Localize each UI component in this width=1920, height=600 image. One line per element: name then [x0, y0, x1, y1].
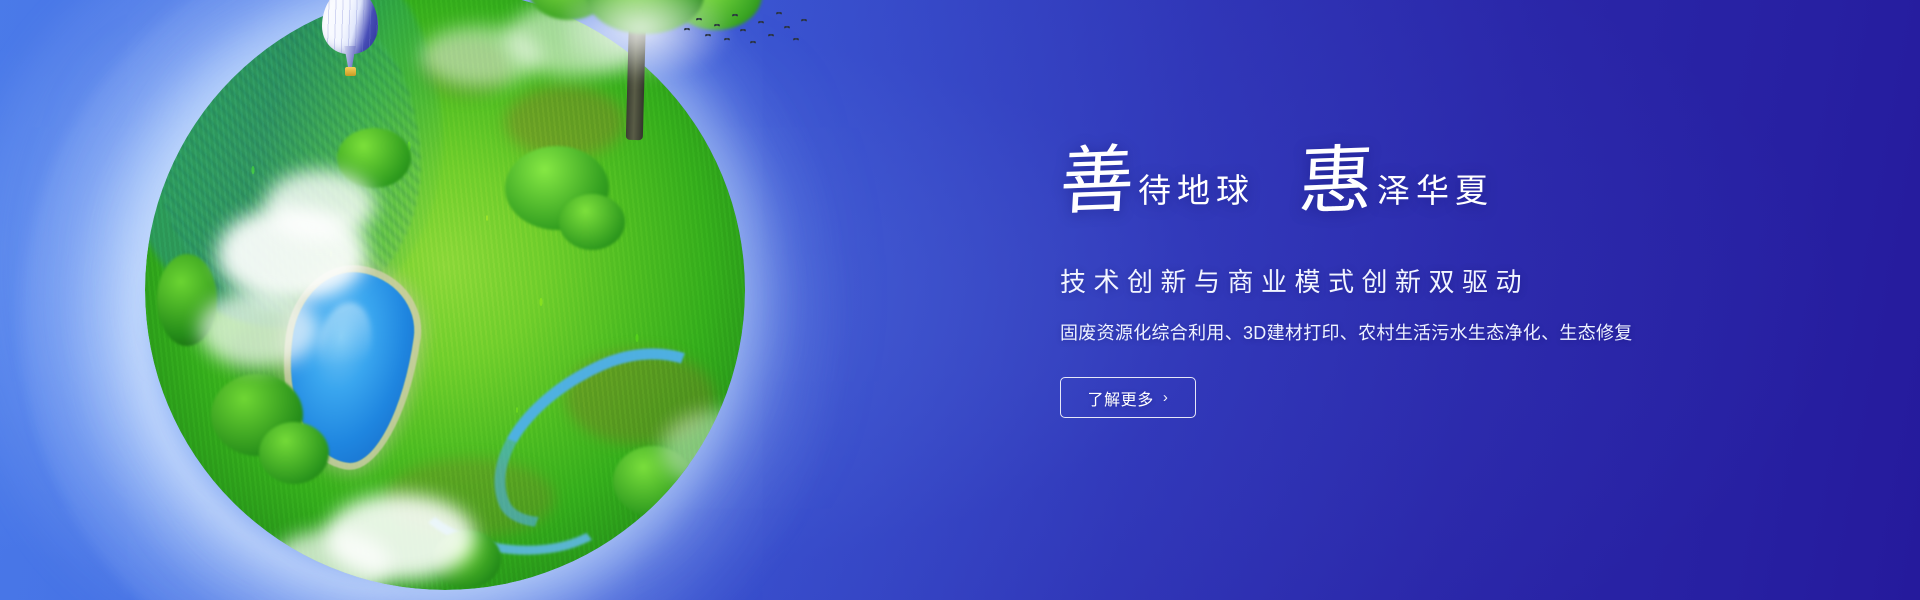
- hero-banner: 善 待地球 惠 泽华夏 技术创新与商业模式创新双驱动 固废资源化综合利用、3D建…: [0, 0, 1920, 600]
- headline-char-2: 惠: [1297, 147, 1375, 218]
- headline-text-1: 待地球: [1138, 164, 1255, 212]
- cloud-icon: [265, 170, 375, 240]
- tree-icon: [259, 422, 329, 484]
- learn-more-label: 了解更多: [1087, 386, 1153, 410]
- headline-text-2: 泽华夏: [1377, 164, 1494, 212]
- hot-air-balloon-icon: [322, 0, 384, 88]
- banner-headline: 善 待地球 惠 泽华夏: [1060, 148, 1760, 228]
- banner-content: 善 待地球 惠 泽华夏 技术创新与商业模式创新双驱动 固废资源化综合利用、3D建…: [1060, 148, 1760, 418]
- chevron-right-icon: ›: [1163, 390, 1169, 405]
- tiny-planet-globe: [90, 0, 790, 600]
- banner-description: 固废资源化综合利用、3D建材打印、农村生活污水生态净化、生态修复: [1060, 319, 1760, 345]
- cloud-icon: [199, 290, 319, 368]
- headline-char-1: 善: [1058, 147, 1136, 218]
- learn-more-button[interactable]: 了解更多 ›: [1060, 377, 1196, 418]
- banner-subtitle: 技术创新与商业模式创新双驱动: [1060, 262, 1760, 299]
- tree-icon: [559, 194, 625, 250]
- bird-flock-icon: [680, 8, 810, 54]
